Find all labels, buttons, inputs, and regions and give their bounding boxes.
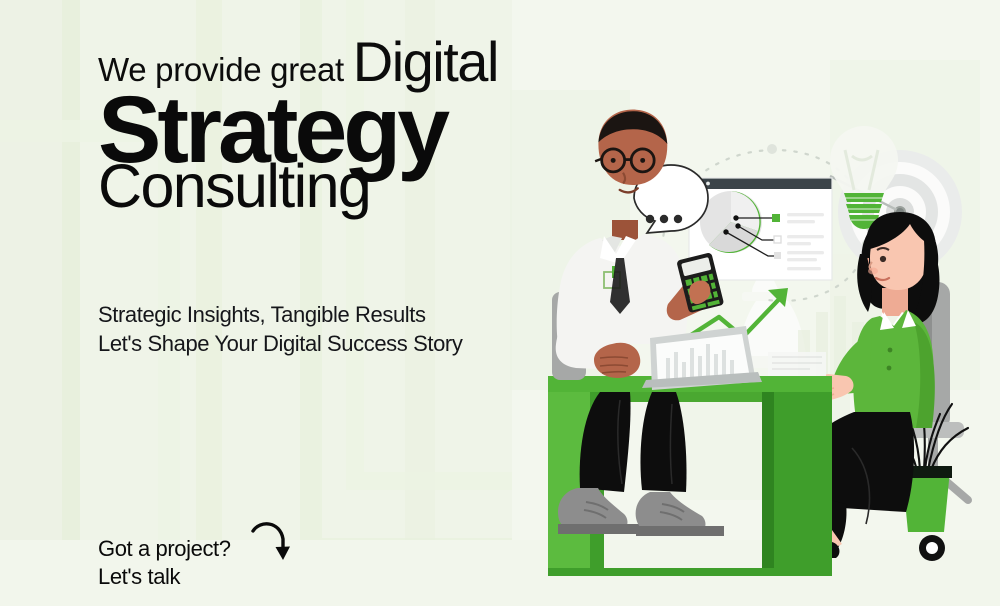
subheading-line-2: Let's Shape Your Digital Success Story xyxy=(98,329,462,358)
cta-line-2: Let's talk xyxy=(98,563,231,591)
headline-block: We provide great Digital Strategy Consul… xyxy=(98,34,618,216)
cta-block[interactable]: Got a project? Let's talk xyxy=(98,535,231,591)
pie-chart xyxy=(700,191,762,253)
subheading-line-1: Strategic Insights, Tangible Results xyxy=(98,300,462,329)
cta-line-1: Got a project? xyxy=(98,536,231,561)
curved-down-arrow-icon xyxy=(250,519,292,574)
headline-sub: Consulting xyxy=(98,158,618,216)
hero-banner: We provide great Digital Strategy Consul… xyxy=(0,0,1000,606)
shoe xyxy=(558,488,644,534)
cta-line-1-row: Got a project? xyxy=(98,535,231,563)
dot-node xyxy=(767,144,777,154)
subheading-block: Strategic Insights, Tangible Results Let… xyxy=(98,300,462,358)
document-stack xyxy=(768,352,826,376)
